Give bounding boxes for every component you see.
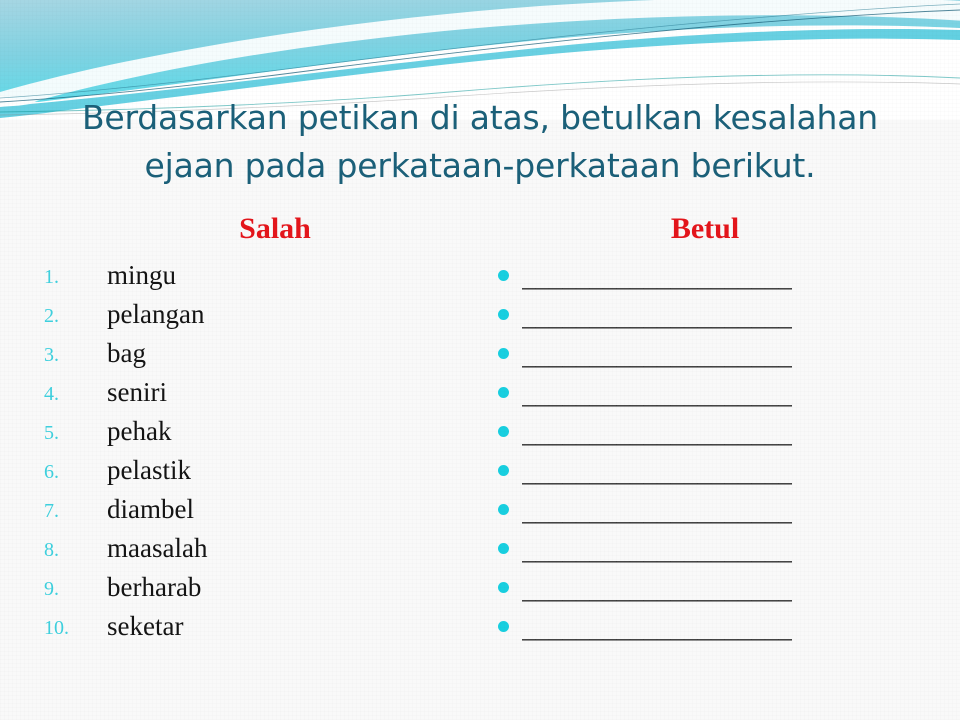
worksheet-row: 1. mingu _______________________ [0,258,960,297]
bullet-icon [498,621,509,632]
misspelled-word: bag [107,336,146,370]
answer-blank[interactable]: _______________________ [522,609,792,647]
misspelled-word: diambel [107,492,194,526]
answer-blank[interactable]: _______________________ [522,258,792,296]
misspelled-word: seniri [107,375,167,409]
misspelled-word: berharab [107,570,201,604]
item-number: 8. [44,535,88,565]
column-heading-right: Betul [590,212,820,246]
worksheet-row: 3. bag _______________________ [0,336,960,375]
page-title-line-1: Berdasarkan petikan di atas, betulkan ke… [40,94,920,142]
answer-blank[interactable]: _______________________ [522,414,792,452]
misspelled-word: pelangan [107,297,204,331]
worksheet-row: 9. berharab _______________________ [0,570,960,609]
answer-blank[interactable]: _______________________ [522,531,792,569]
misspelled-word: pelastik [107,453,191,487]
slide-canvas: Berdasarkan petikan di atas, betulkan ke… [0,0,960,720]
misspelled-word: maasalah [107,531,207,565]
bullet-icon [498,543,509,554]
bullet-icon [498,348,509,359]
item-number: 2. [44,301,88,331]
worksheet-row: 8. maasalah _______________________ [0,531,960,570]
bullet-icon [498,582,509,593]
worksheet-row: 5. pehak _______________________ [0,414,960,453]
item-number: 3. [44,340,88,370]
item-number: 5. [44,418,88,448]
worksheet-rows: 1. mingu _______________________ 2. pela… [0,258,960,648]
bullet-icon [498,387,509,398]
page-title: Berdasarkan petikan di atas, betulkan ke… [40,94,920,190]
worksheet-row: 6. pelastik _______________________ [0,453,960,492]
answer-blank[interactable]: _______________________ [522,570,792,608]
misspelled-word: pehak [107,414,171,448]
answer-blank[interactable]: _______________________ [522,453,792,491]
item-number: 4. [44,379,88,409]
bullet-icon [498,426,509,437]
item-number: 10. [44,613,88,643]
item-number: 6. [44,457,88,487]
bullet-icon [498,270,509,281]
bullet-icon [498,504,509,515]
item-number: 7. [44,496,88,526]
worksheet-row: 7. diambel _______________________ [0,492,960,531]
misspelled-word: mingu [107,258,176,292]
answer-blank[interactable]: _______________________ [522,297,792,335]
worksheet-row: 10. seketar _______________________ [0,609,960,648]
answer-blank[interactable]: _______________________ [522,492,792,530]
bullet-icon [498,465,509,476]
misspelled-word: seketar [107,609,183,643]
answer-blank[interactable]: _______________________ [522,375,792,413]
column-heading-wrong: Salah [160,212,390,246]
page-title-line-2: ejaan pada perkataan-perkataan berikut. [40,142,920,190]
item-number: 1. [44,262,88,292]
bullet-icon [498,309,509,320]
item-number: 9. [44,574,88,604]
worksheet-row: 4. seniri _______________________ [0,375,960,414]
answer-blank[interactable]: _______________________ [522,336,792,374]
worksheet-row: 2. pelangan _______________________ [0,297,960,336]
